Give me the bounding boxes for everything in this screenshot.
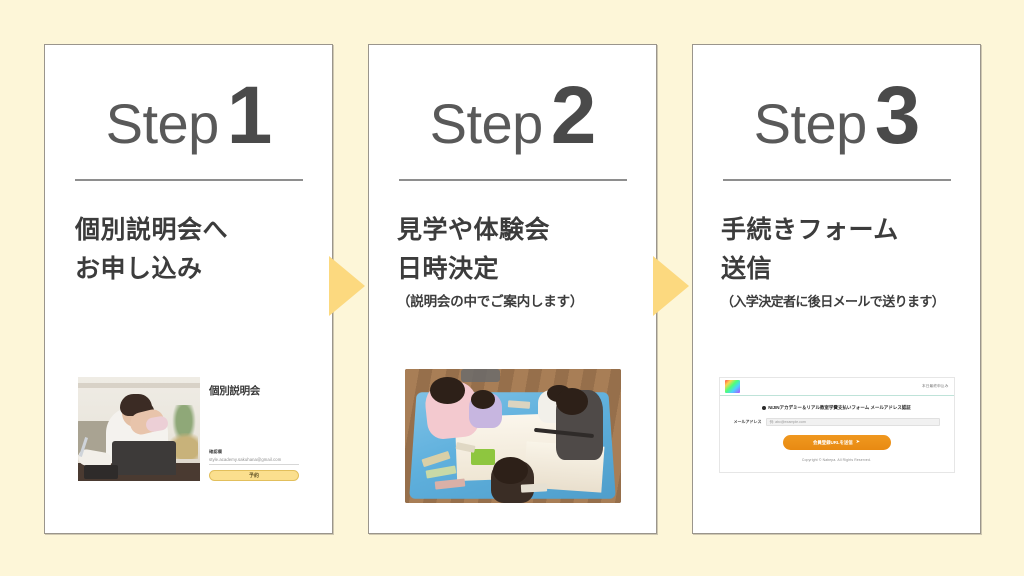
steps-infographic: Step 1 個別説明会へ お申し込み <box>0 0 1024 576</box>
step-title-2: 見学や体験会 日時決定 （説明会の中でご案内します） <box>391 211 634 311</box>
step-title-line: 日時決定 <box>397 250 634 289</box>
thumbnail-navbar: 本日最終申込み <box>720 378 954 396</box>
step-title-line: お申し込み <box>75 250 310 289</box>
step-number-label: 1 <box>227 75 272 157</box>
step-heading-3: Step 3 <box>754 75 920 171</box>
thumbnail-form-value: style.academy.sakuhana@gmail.com <box>209 457 299 462</box>
step-title-line: 見学や体験会 <box>397 211 634 250</box>
thumbnail-form-heading: NIJINアカデミー＆リアル教室学費支払いフォーム メールアドレス認証 <box>762 405 911 411</box>
thumbnail-form-heading-text: NIJINアカデミー＆リアル教室学費支払いフォーム メールアドレス認証 <box>768 405 911 411</box>
step-title-line: 個別説明会へ <box>75 211 310 250</box>
step-heading-2: Step 2 <box>430 75 596 171</box>
paper-plane-icon: ➤ <box>856 440 860 445</box>
thumbnail-nav-text: 本日最終申込み <box>922 384 949 389</box>
bullet-icon <box>762 406 766 410</box>
thumbnail-submit-label: 会員登録URLを送信 <box>813 440 853 446</box>
arrow-step1-to-step2-icon <box>329 256 365 316</box>
workshop-photo <box>405 369 621 503</box>
booking-page-thumbnail: 個別説明会 確認欄 style.academy.sakuhana@gmail.c… <box>78 377 299 481</box>
step-word-label: Step <box>430 96 543 152</box>
rainbow-logo-icon <box>725 380 740 393</box>
thumbnail-email-field-row: メールアドレス 例: abc@example.com <box>734 418 940 426</box>
thumbnail-copyright: Copyright © Nabepa. All Rights Reserved. <box>802 458 871 462</box>
step-sub-note: （入学決定者に後日メールで送ります） <box>721 293 958 311</box>
step-divider <box>399 179 627 181</box>
thumbnail-page-title: 個別説明会 <box>209 383 299 398</box>
step-card-3: Step 3 手続きフォーム 送信 （入学決定者に後日メールで送ります） 本日最… <box>692 44 981 534</box>
step-media-1: 個別説明会 確認欄 style.academy.sakuhana@gmail.c… <box>67 377 310 481</box>
step-word-label: Step <box>106 96 219 152</box>
thumbnail-submit-button[interactable]: 会員登録URLを送信 ➤ <box>783 435 891 450</box>
step-title-3: 手続きフォーム 送信 （入学決定者に後日メールで送ります） <box>715 211 958 311</box>
thumbnail-email-input[interactable]: 例: abc@example.com <box>766 418 940 426</box>
payment-form-thumbnail: 本日最終申込み NIJINアカデミー＆リアル教室学費支払いフォーム メールアドレ… <box>719 377 955 473</box>
thumbnail-form-label: 確認欄 <box>209 449 299 455</box>
thumbnail-reserve-button[interactable]: 予約 <box>209 470 299 481</box>
step-number-label: 3 <box>875 75 920 157</box>
thumbnail-content: 個別説明会 確認欄 style.academy.sakuhana@gmail.c… <box>209 377 299 481</box>
arrow-step2-to-step3-icon <box>653 256 689 316</box>
step-title-1: 個別説明会へ お申し込み <box>67 211 310 289</box>
step-divider <box>723 179 951 181</box>
thumbnail-form: 確認欄 style.academy.sakuhana@gmail.com 予約 <box>209 449 299 481</box>
thumbnail-photo <box>78 377 200 481</box>
step-heading-1: Step 1 <box>106 75 272 171</box>
step-card-2: Step 2 見学や体験会 日時決定 （説明会の中でご案内します） <box>368 44 657 534</box>
step-media-2 <box>391 369 634 503</box>
step-word-label: Step <box>754 96 867 152</box>
step-number-label: 2 <box>551 75 596 157</box>
thumbnail-form-rule <box>209 464 299 465</box>
step-title-line: 送信 <box>721 250 958 289</box>
thumbnail-form-body: NIJINアカデミー＆リアル教室学費支払いフォーム メールアドレス認証 メールア… <box>720 396 954 472</box>
step-card-1: Step 1 個別説明会へ お申し込み <box>44 44 333 534</box>
step-title-line: 手続きフォーム <box>721 211 958 250</box>
step-divider <box>75 179 303 181</box>
step-sub-note: （説明会の中でご案内します） <box>397 293 634 312</box>
step-cards-container: Step 1 個別説明会へ お申し込み <box>0 44 1024 534</box>
thumbnail-email-label: メールアドレス <box>734 419 762 425</box>
step-media-3: 本日最終申込み NIJINアカデミー＆リアル教室学費支払いフォーム メールアドレ… <box>715 377 958 473</box>
